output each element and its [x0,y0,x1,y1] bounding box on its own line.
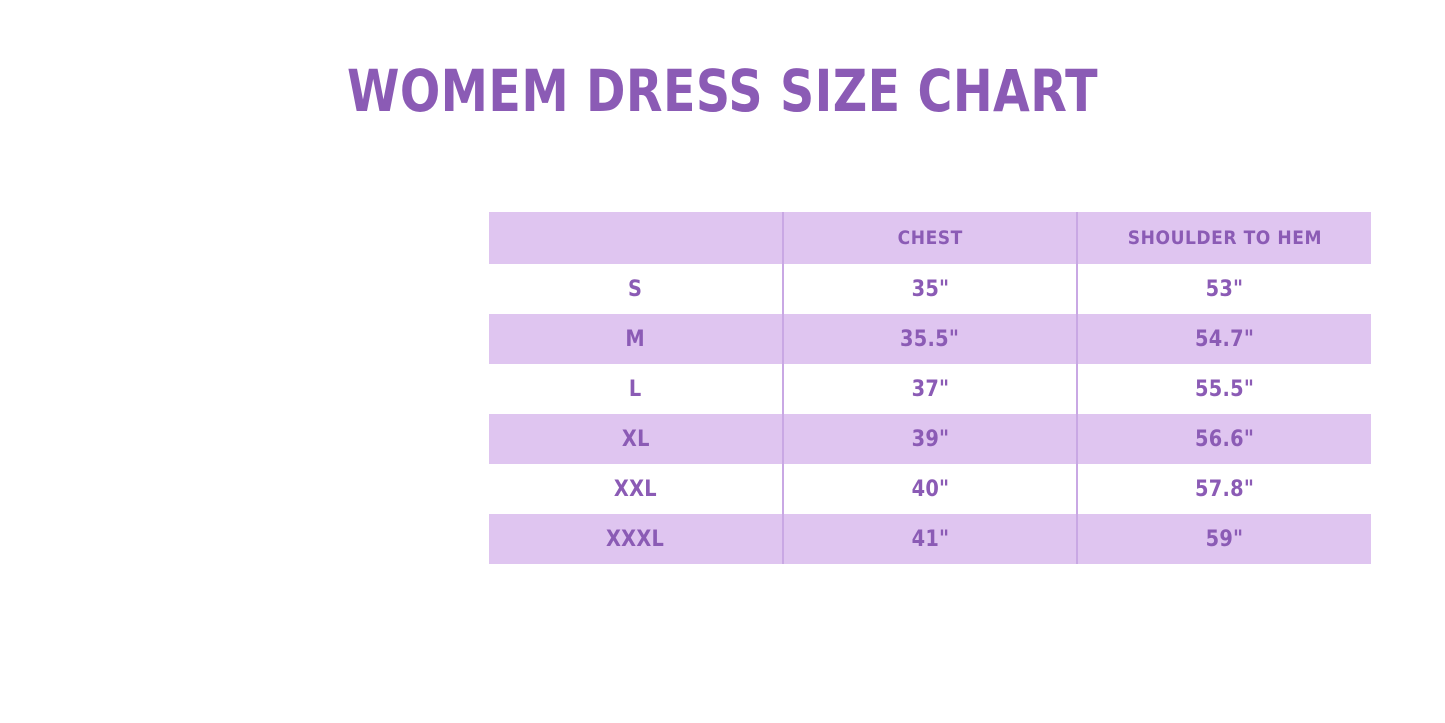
shoulder-to-hem-value: 54.7" [1195,327,1254,352]
cell-shoulder-to-hem: 59" [1077,514,1371,564]
cell-size: XXXL [489,514,783,564]
cell-shoulder-to-hem: 57.8" [1077,464,1371,514]
table-body: S 35" 53" M 35.5" 54.7" [489,264,1371,564]
cell-shoulder-to-hem: 56.6" [1077,414,1371,464]
cell-shoulder-to-hem: 55.5" [1077,364,1371,414]
cell-size: L [489,364,783,414]
cell-size: S [489,264,783,314]
table-row: S 35" 53" [489,264,1371,314]
column-header-size [489,212,783,264]
size-chart-page: WOMEM DRESS SIZE CHART CHEST SHOULDER TO… [0,0,1445,723]
table-header-row: CHEST SHOULDER TO HEM [489,212,1371,264]
cell-size: M [489,314,783,364]
cell-chest: 37" [783,364,1077,414]
table-row: XL 39" 56.6" [489,414,1371,464]
shoulder-to-hem-value: 56.6" [1195,427,1254,452]
table-row: XXL 40" 57.8" [489,464,1371,514]
size-chart-table: CHEST SHOULDER TO HEM S 35" 53" [489,212,1371,564]
table-row: L 37" 55.5" [489,364,1371,414]
size-label: S [628,277,642,302]
shoulder-to-hem-value: 59" [1206,527,1244,552]
cell-shoulder-to-hem: 54.7" [1077,314,1371,364]
chest-value: 40" [911,477,949,502]
chest-value: 37" [911,377,949,402]
column-header-chest: CHEST [783,212,1077,264]
shoulder-to-hem-value: 57.8" [1195,477,1254,502]
cell-chest: 40" [783,464,1077,514]
size-label: XL [622,427,650,452]
size-label: M [626,327,646,352]
cell-size: XL [489,414,783,464]
size-label: XXXL [606,527,664,552]
chest-value: 35.5" [900,327,959,352]
page-title: WOMEM DRESS SIZE CHART [130,55,1315,127]
column-header-chest-label: CHEST [897,227,962,249]
cell-shoulder-to-hem: 53" [1077,264,1371,314]
chest-value: 35" [911,277,949,302]
cell-chest: 41" [783,514,1077,564]
size-label: XXL [614,477,657,502]
cell-chest: 35" [783,264,1077,314]
size-label: L [629,377,642,402]
shoulder-to-hem-value: 53" [1206,277,1244,302]
column-header-shoulder-to-hem: SHOULDER TO HEM [1077,212,1371,264]
chest-value: 39" [911,427,949,452]
cell-size: XXL [489,464,783,514]
cell-chest: 35.5" [783,314,1077,364]
column-header-shoulder-to-hem-label: SHOULDER TO HEM [1127,227,1321,249]
cell-chest: 39" [783,414,1077,464]
shoulder-to-hem-value: 55.5" [1195,377,1254,402]
table-row: M 35.5" 54.7" [489,314,1371,364]
table-row: XXXL 41" 59" [489,514,1371,564]
table-header: CHEST SHOULDER TO HEM [489,212,1371,264]
chest-value: 41" [911,527,949,552]
